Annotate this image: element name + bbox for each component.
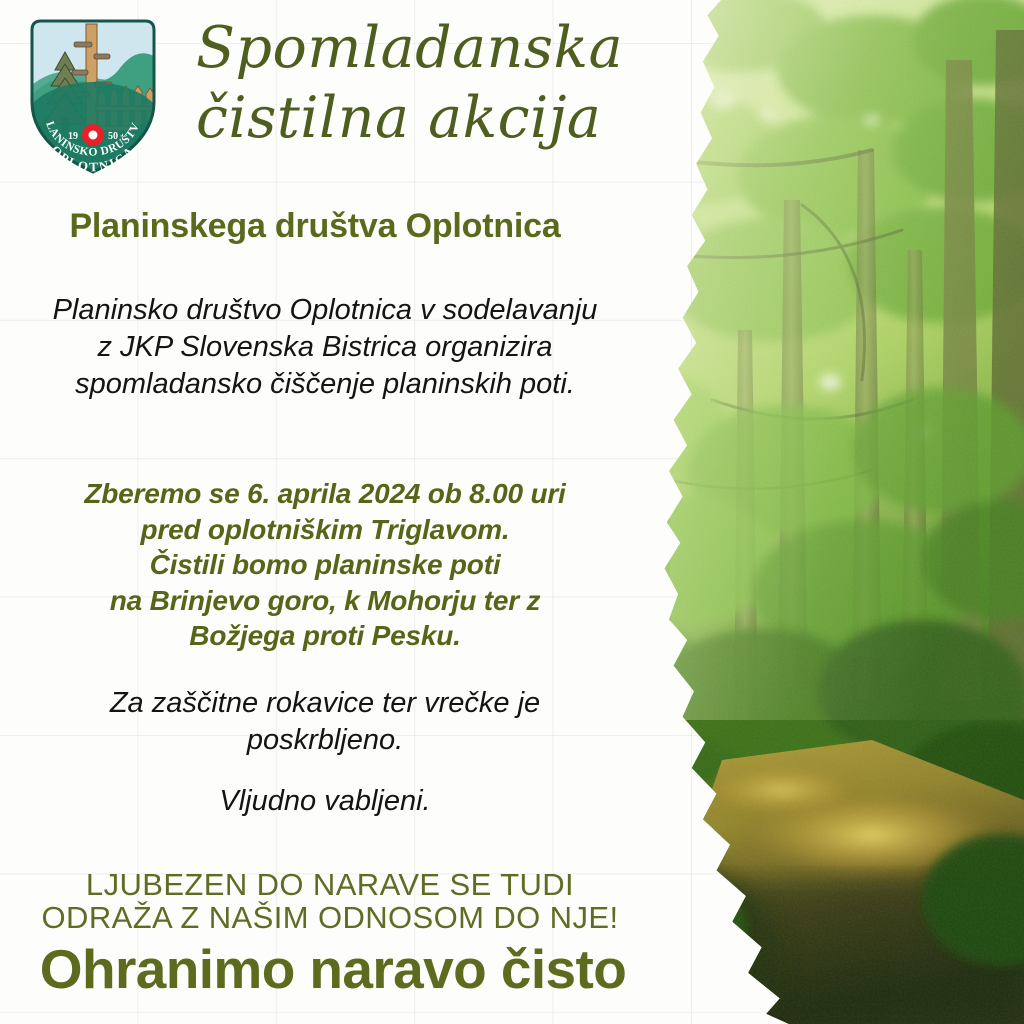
details-line-3: Čistili bomo planinske poti [25, 547, 625, 583]
slogan-caps-line-2: ODRAŽA Z NAŠIM ODNOSOM DO NJE! [15, 901, 645, 934]
details-line-2: pred oplotniškim Triglavom. [25, 512, 625, 548]
slogan-uppercase: LJUBEZEN DO NARAVE SE TUDI ODRAŽA Z NAŠI… [15, 868, 645, 935]
title-line-2: čistilna akcija [196, 84, 616, 154]
poster-subtitle: Planinskega društva Oplotnica [0, 207, 630, 246]
details-line-4: na Brinjevo goro, k Mohorju ter z [25, 583, 625, 619]
poster-title: Spomladanska čistilna akcija [196, 14, 616, 153]
intro-paragraph: Planinsko društvo Oplotnica v sodelavanj… [45, 292, 605, 403]
gloves-paragraph: Za zaščitne rokavice ter vrečke je poskr… [45, 685, 605, 759]
text-column: Spomladanska čistilna akcija Planinskega… [0, 0, 660, 1024]
slogan-headline: Ohranimo naravo čisto [8, 937, 658, 1001]
invitation-text: Vljudno vabljeni. [45, 783, 605, 820]
poster-canvas: PLANINSKO DRUŠTVO OPLOTNICA 19 50 Spomla… [0, 0, 1024, 1024]
event-details: Zberemo se 6. aprila 2024 ob 8.00 uri pr… [25, 476, 625, 654]
slogan-caps-line-1: LJUBEZEN DO NARAVE SE TUDI [15, 868, 645, 901]
details-line-1: Zberemo se 6. aprila 2024 ob 8.00 uri [25, 476, 625, 512]
title-line-1: Spomladanska [196, 14, 616, 84]
details-line-5: Božjega proti Pesku. [25, 618, 625, 654]
